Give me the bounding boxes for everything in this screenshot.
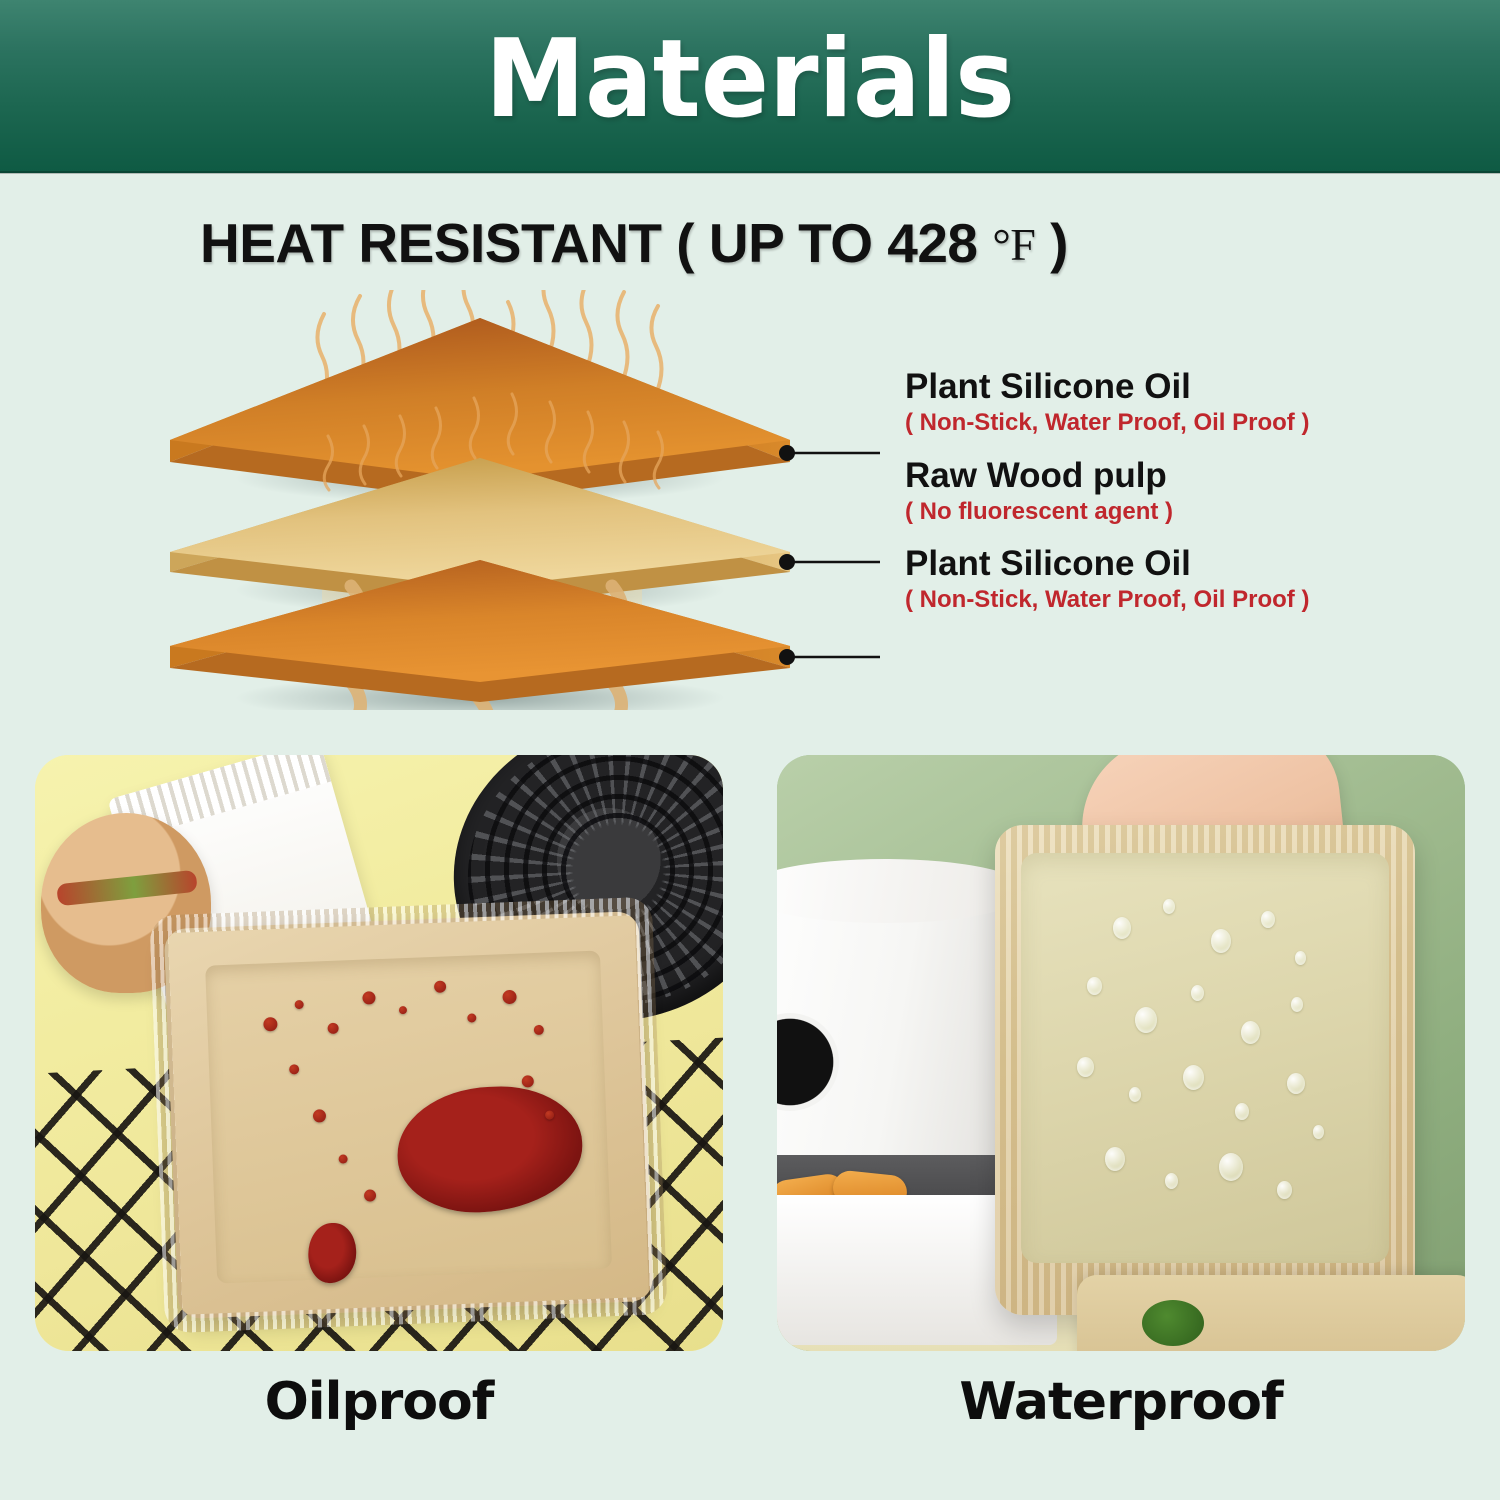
- water-droplet: [1291, 997, 1303, 1012]
- leader-lines-group: [790, 453, 880, 657]
- annotation-subtitle: ( No fluorescent agent ): [905, 497, 1375, 527]
- parchment-liner: [995, 825, 1415, 1315]
- water-droplet: [1135, 1007, 1157, 1033]
- water-droplet: [1183, 1065, 1204, 1090]
- water-droplet: [1077, 1057, 1094, 1077]
- secondary-liner: [1077, 1275, 1465, 1351]
- degree-fahrenheit-unit: °F: [992, 219, 1035, 270]
- headline-suffix: ): [1035, 212, 1068, 274]
- heat-resistant-headline: HEAT RESISTANT ( UP TO 428 °F ): [200, 212, 1320, 274]
- headline-prefix: HEAT RESISTANT ( UP TO 428: [200, 212, 992, 274]
- leader-dot-middle: [779, 554, 795, 570]
- waterproof-demo-photo: [777, 755, 1465, 1351]
- leader-dot-top: [779, 445, 795, 461]
- header-banner: Materials: [0, 0, 1500, 173]
- layer-diagram: [150, 290, 880, 710]
- water-droplet: [1211, 929, 1231, 953]
- page-title: Materials: [53, 20, 1448, 140]
- liner-sheet: [1021, 853, 1389, 1263]
- water-droplet: [1219, 1153, 1243, 1181]
- water-droplet: [1165, 1173, 1178, 1189]
- annotation-subtitle: ( Non-Stick, Water Proof, Oil Proof ): [905, 408, 1375, 438]
- water-droplet: [1163, 899, 1175, 914]
- annotation-top-layer: Plant Silicone Oil ( Non-Stick, Water Pr…: [905, 366, 1375, 438]
- annotation-bottom-layer: Plant Silicone Oil ( Non-Stick, Water Pr…: [905, 543, 1375, 615]
- infographic-root: Materials HEAT RESISTANT ( UP TO 428 °F …: [0, 0, 1500, 1500]
- annotation-title: Plant Silicone Oil: [905, 366, 1375, 407]
- air-fryer-dial: [777, 1013, 839, 1111]
- water-droplet: [1113, 917, 1131, 939]
- annotation-title: Plant Silicone Oil: [905, 543, 1375, 584]
- annotation-title: Raw Wood pulp: [905, 455, 1375, 496]
- air-fryer-lid: [777, 859, 1029, 923]
- water-droplet: [1241, 1021, 1260, 1044]
- parchment-liner: [164, 911, 654, 1319]
- water-droplet: [1129, 1087, 1141, 1102]
- water-droplet: [1277, 1181, 1292, 1199]
- water-droplet: [1191, 985, 1204, 1001]
- water-droplet: [1087, 977, 1102, 995]
- annotation-middle-layer: Raw Wood pulp ( No fluorescent agent ): [905, 455, 1375, 527]
- leader-dot-bottom: [779, 649, 795, 665]
- water-droplet: [1261, 911, 1275, 928]
- header-divider: [0, 171, 1500, 174]
- oilproof-demo-photo: [35, 755, 723, 1351]
- water-droplet: [1235, 1103, 1249, 1120]
- water-droplet: [1287, 1073, 1305, 1094]
- water-droplet: [1313, 1125, 1324, 1139]
- annotation-subtitle: ( Non-Stick, Water Proof, Oil Proof ): [905, 585, 1375, 615]
- water-droplet: [1295, 951, 1306, 965]
- caption-waterproof: Waterproof: [777, 1372, 1465, 1432]
- caption-oilproof: Oilproof: [35, 1372, 723, 1432]
- broccoli: [1142, 1300, 1204, 1346]
- water-droplet: [1105, 1147, 1125, 1171]
